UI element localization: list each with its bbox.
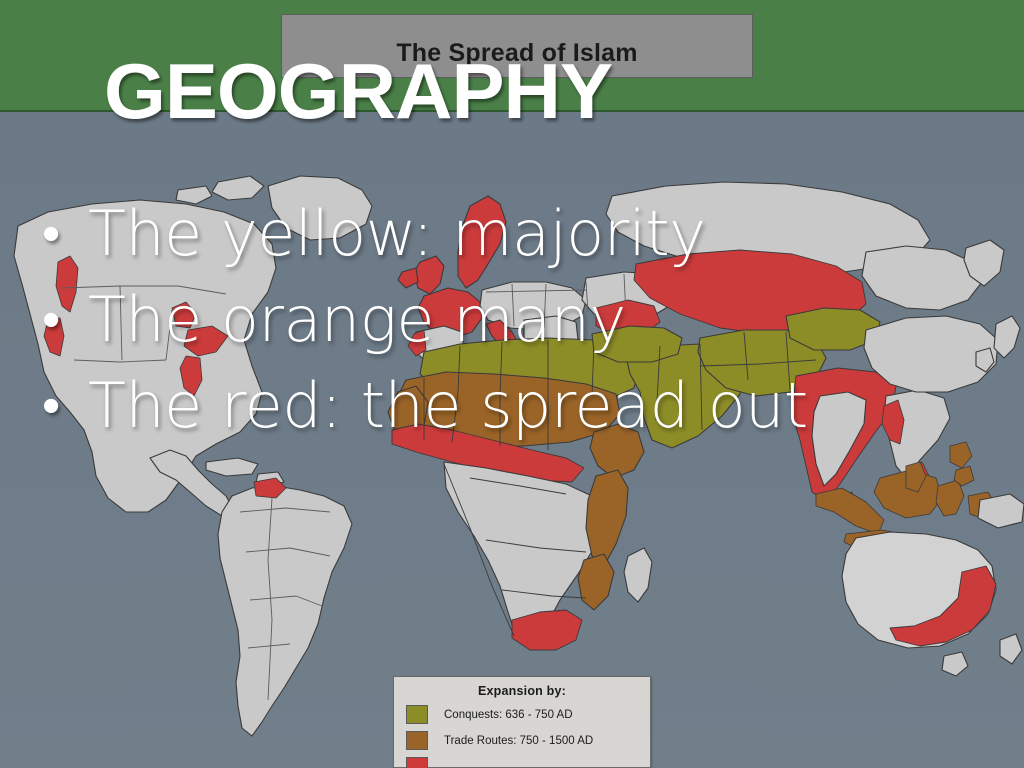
slide-bullet-list: • The yellow: majority • The orange many… <box>42 196 1002 454</box>
landmass-south-america <box>218 486 352 736</box>
bullet-text-orange: The orange many <box>88 282 626 358</box>
legend-item-conquests: Conquests: 636 - 750 AD <box>394 705 650 724</box>
slide-title: GEOGRAPHY <box>104 52 612 130</box>
legend-label-trade-routes: Trade Routes: 750 - 1500 AD <box>444 735 593 747</box>
bullet-marker-icon: • <box>42 282 88 358</box>
bullet-text-red: The red: the spread out <box>88 368 808 444</box>
legend-swatch-conquests <box>406 705 428 724</box>
bullet-marker-icon: • <box>42 368 88 444</box>
bullet-item-yellow: • The yellow: majority <box>42 196 1002 272</box>
bullet-item-orange: • The orange many <box>42 282 1002 358</box>
landmass-tasmania <box>942 652 968 676</box>
legend-swatch-spread <box>406 757 428 768</box>
legend-item-spread <box>394 757 650 768</box>
map-legend: Expansion by: Conquests: 636 - 750 AD Tr… <box>393 676 651 768</box>
landmass-caribbean-cuba <box>206 458 258 476</box>
bullet-item-red: • The red: the spread out <box>42 368 1002 444</box>
landmass-africa-east-orange <box>586 470 628 566</box>
legend-swatch-trade-routes <box>406 731 428 750</box>
bullet-marker-icon: • <box>42 196 88 272</box>
legend-title: Expansion by: <box>394 684 650 698</box>
region-orange-sumatra <box>816 488 884 534</box>
landmass-madagascar <box>624 548 652 602</box>
slide-canvas: The Spread of Islam Expansion by: Conque… <box>0 0 1024 768</box>
legend-item-trade-routes: Trade Routes: 750 - 1500 AD <box>394 731 650 750</box>
landmass-africa-southeast-orange <box>578 554 614 610</box>
bullet-text-yellow: The yellow: majority <box>88 196 705 272</box>
region-orange-sulawesi <box>936 480 964 516</box>
landmass-new-guinea <box>978 494 1024 528</box>
landmass-new-zealand <box>1000 634 1022 664</box>
legend-label-conquests: Conquests: 636 - 750 AD <box>444 709 573 721</box>
